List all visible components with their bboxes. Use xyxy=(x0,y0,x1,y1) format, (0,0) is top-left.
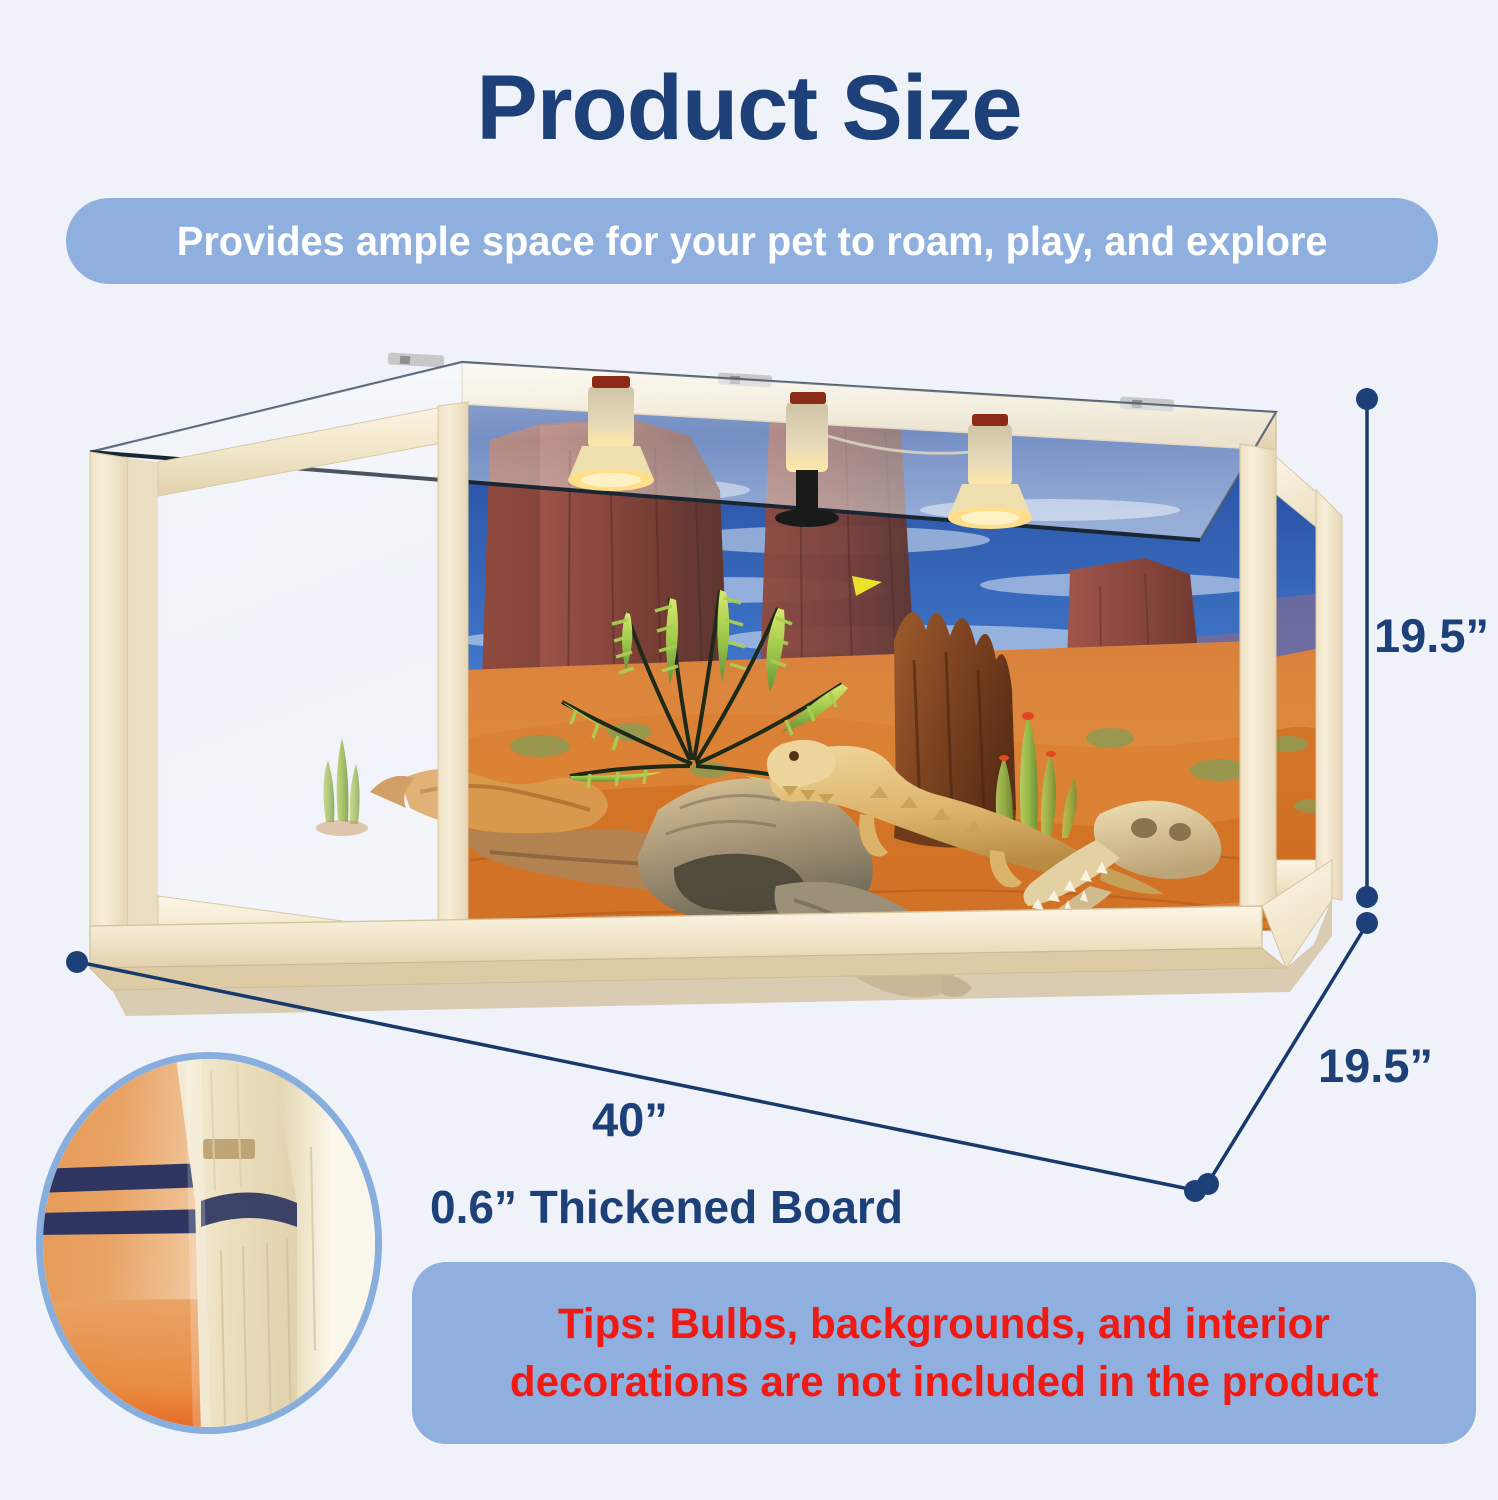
lid-hinge-left xyxy=(388,352,445,367)
tips-line-1: Tips: Bulbs, backgrounds, and interior xyxy=(558,1295,1330,1353)
corner-joint-closeup-image xyxy=(36,1052,382,1434)
left-glass-panel xyxy=(168,412,460,960)
tips-line-2: decorations are not included in the prod… xyxy=(510,1353,1379,1411)
depth-dimension-label: 19.5” xyxy=(1318,1038,1433,1093)
subtitle-banner: Provides ample space for your pet to roa… xyxy=(66,198,1438,284)
front-right-post xyxy=(1240,444,1276,910)
front-left-post xyxy=(90,452,128,936)
product-size-infographic: Product Size Provides ample space for yo… xyxy=(0,0,1498,1500)
page-title: Product Size xyxy=(0,62,1498,154)
height-dimension-label: 19.5” xyxy=(1374,608,1489,663)
tips-banner: Tips: Bulbs, backgrounds, and interior d… xyxy=(412,1262,1476,1444)
rear-right-post xyxy=(1316,490,1342,900)
corner-joint-closeup-inset xyxy=(36,1052,382,1434)
board-thickness-caption: 0.6” Thickened Board xyxy=(430,1180,903,1234)
terrarium-product-image xyxy=(70,340,1350,1020)
subtitle-text: Provides ample space for your pet to roa… xyxy=(177,218,1328,265)
width-dimension-label: 40” xyxy=(592,1092,668,1147)
terrarium-illustration xyxy=(70,340,1350,1020)
